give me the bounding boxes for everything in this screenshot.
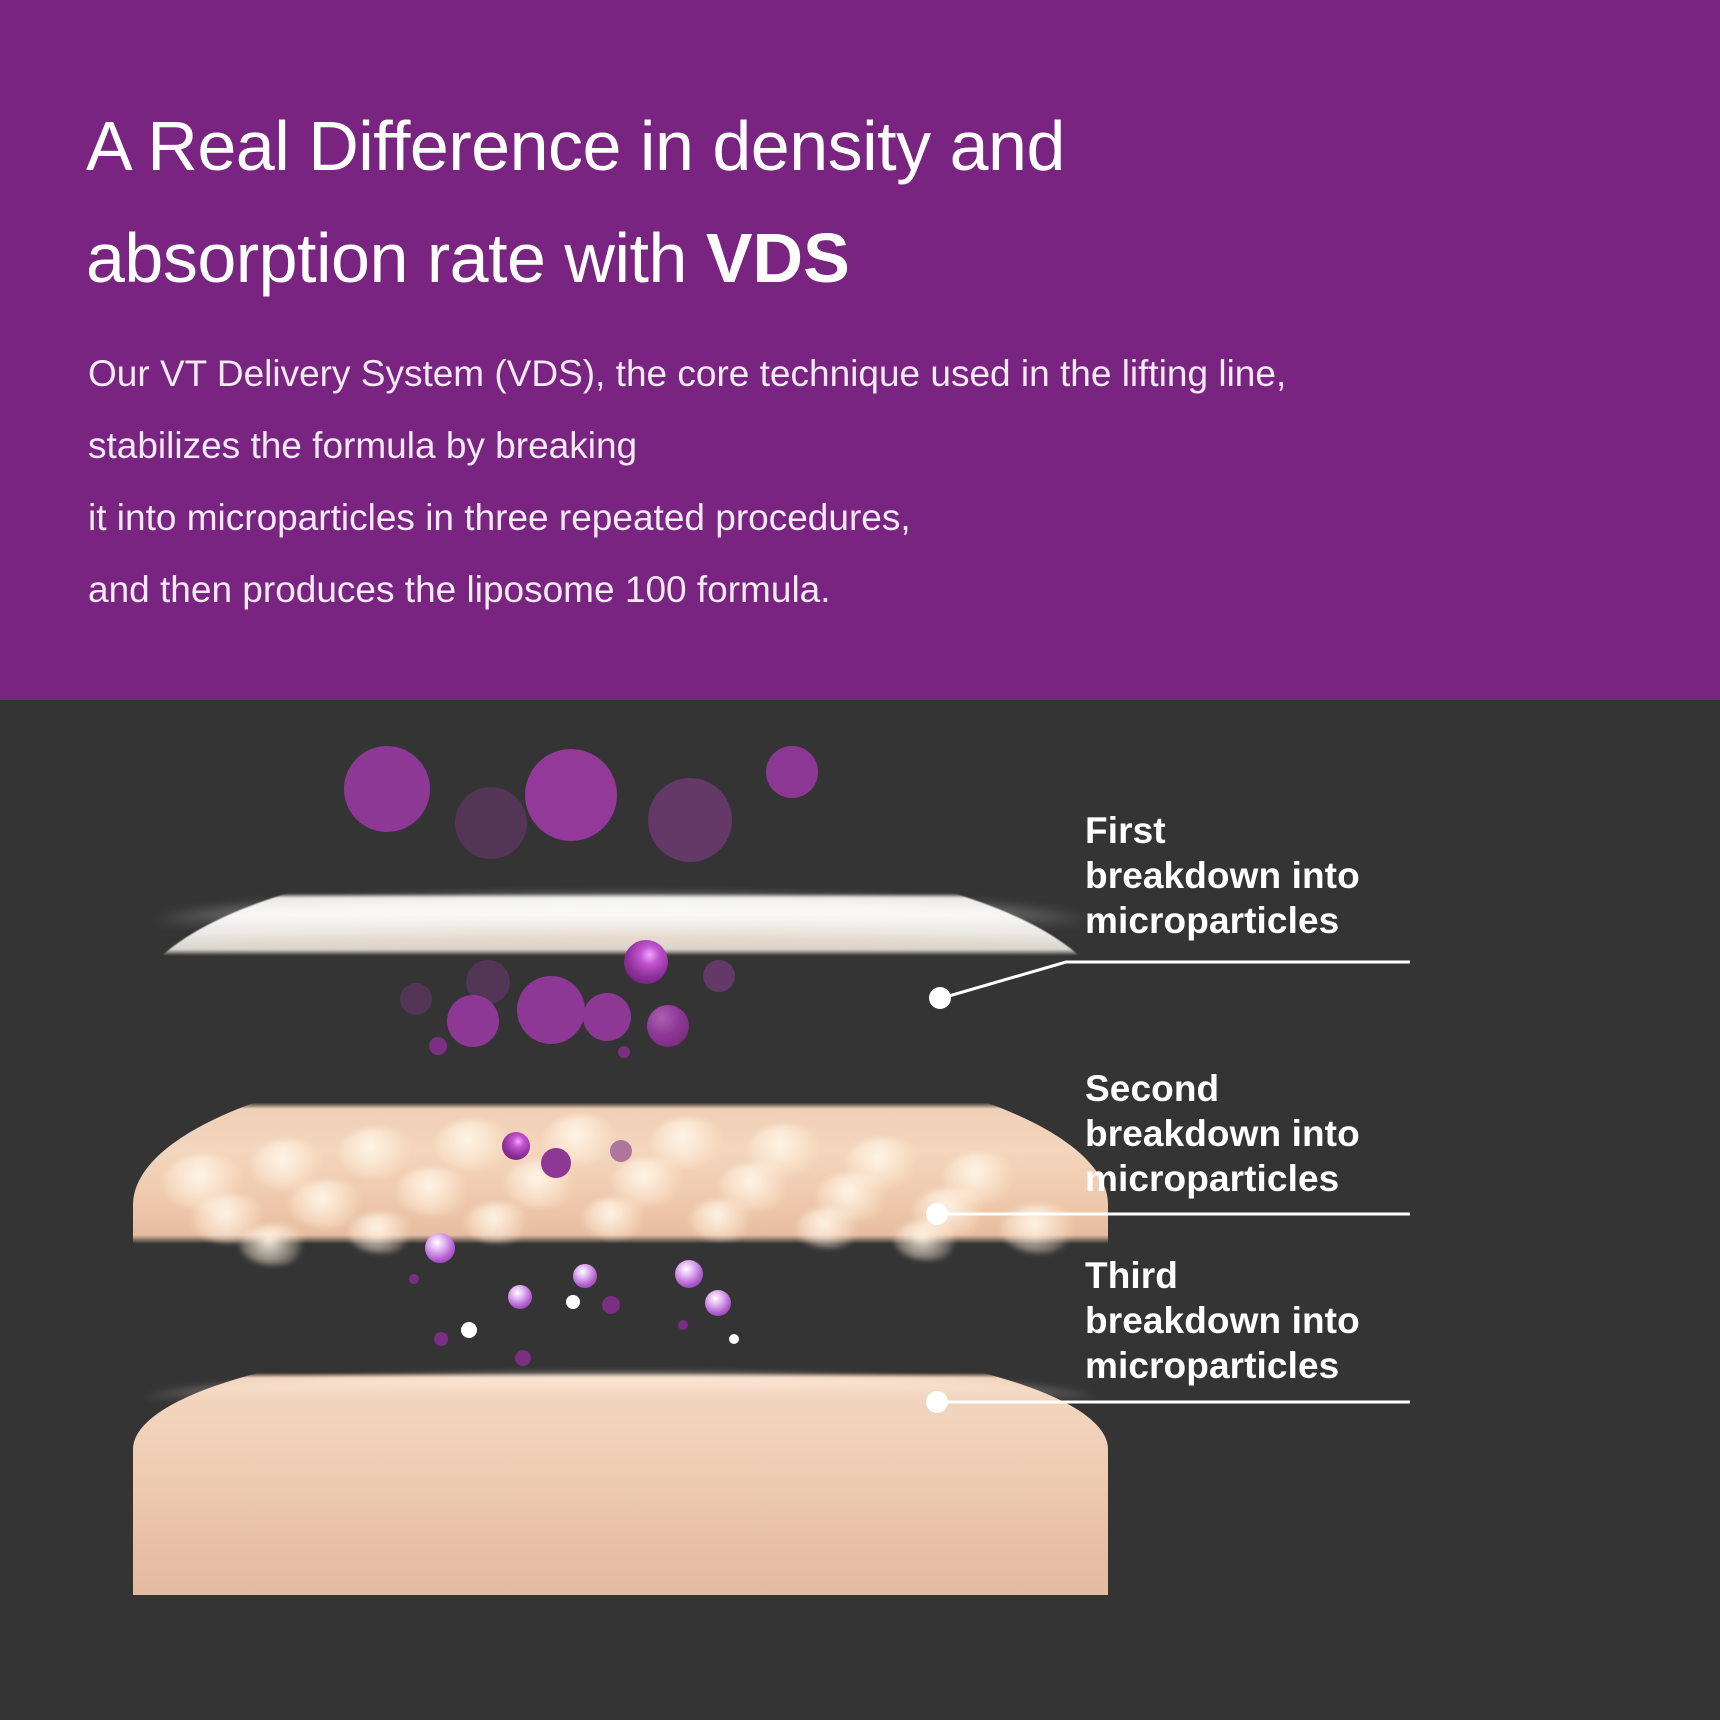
particle: [566, 1295, 580, 1309]
particle: [344, 746, 430, 832]
particle: [675, 1260, 703, 1288]
particle: [429, 1037, 447, 1055]
particle: [508, 1285, 532, 1309]
page-title: A Real Difference in density andabsorpti…: [86, 90, 1436, 314]
particle: [647, 1005, 689, 1047]
particle: [447, 995, 499, 1047]
page-title-emphasis: VDS: [706, 219, 850, 297]
diagram-area: First breakdown into microparticles Seco…: [0, 700, 1720, 1720]
particle: [455, 787, 527, 859]
particle: [618, 1046, 630, 1058]
particle: [624, 940, 668, 984]
particle: [461, 1322, 477, 1338]
barrier-layer-band: [133, 850, 1108, 1010]
particle: [583, 993, 631, 1041]
particle: [602, 1296, 620, 1314]
particle: [648, 778, 732, 862]
callout-label-first: First breakdown into microparticles: [1085, 808, 1360, 943]
particle: [515, 1350, 531, 1366]
particle: [703, 960, 735, 992]
particle: [705, 1290, 731, 1316]
particle: [766, 746, 818, 798]
particle: [517, 976, 585, 1044]
hero-banner: A Real Difference in density andabsorpti…: [0, 0, 1720, 700]
callout-label-second: Second breakdown into microparticles: [1085, 1066, 1360, 1201]
infographic-page: A Real Difference in density andabsorpti…: [0, 0, 1720, 1720]
particle: [678, 1320, 688, 1330]
particle: [400, 983, 432, 1015]
callout-label-third: Third breakdown into microparticles: [1085, 1253, 1360, 1388]
hero-description: Our VT Delivery System (VDS), the core t…: [88, 338, 1518, 626]
barrier-layer: [133, 850, 1108, 1010]
particle: [729, 1334, 739, 1344]
particle: [502, 1132, 530, 1160]
cellular-layer-highlights: [133, 1050, 1108, 1300]
particle: [573, 1264, 597, 1288]
particle: [610, 1140, 632, 1162]
page-title-line-2-prefix: absorption rate with: [86, 219, 706, 297]
particle: [409, 1274, 419, 1284]
cellular-layer: [133, 1050, 1108, 1300]
particle: [525, 749, 617, 841]
page-title-line-1: A Real Difference in density and: [86, 107, 1065, 185]
particle: [425, 1233, 455, 1263]
particle: [541, 1148, 571, 1178]
particle: [434, 1332, 448, 1346]
skin-layer: [133, 1335, 1108, 1595]
